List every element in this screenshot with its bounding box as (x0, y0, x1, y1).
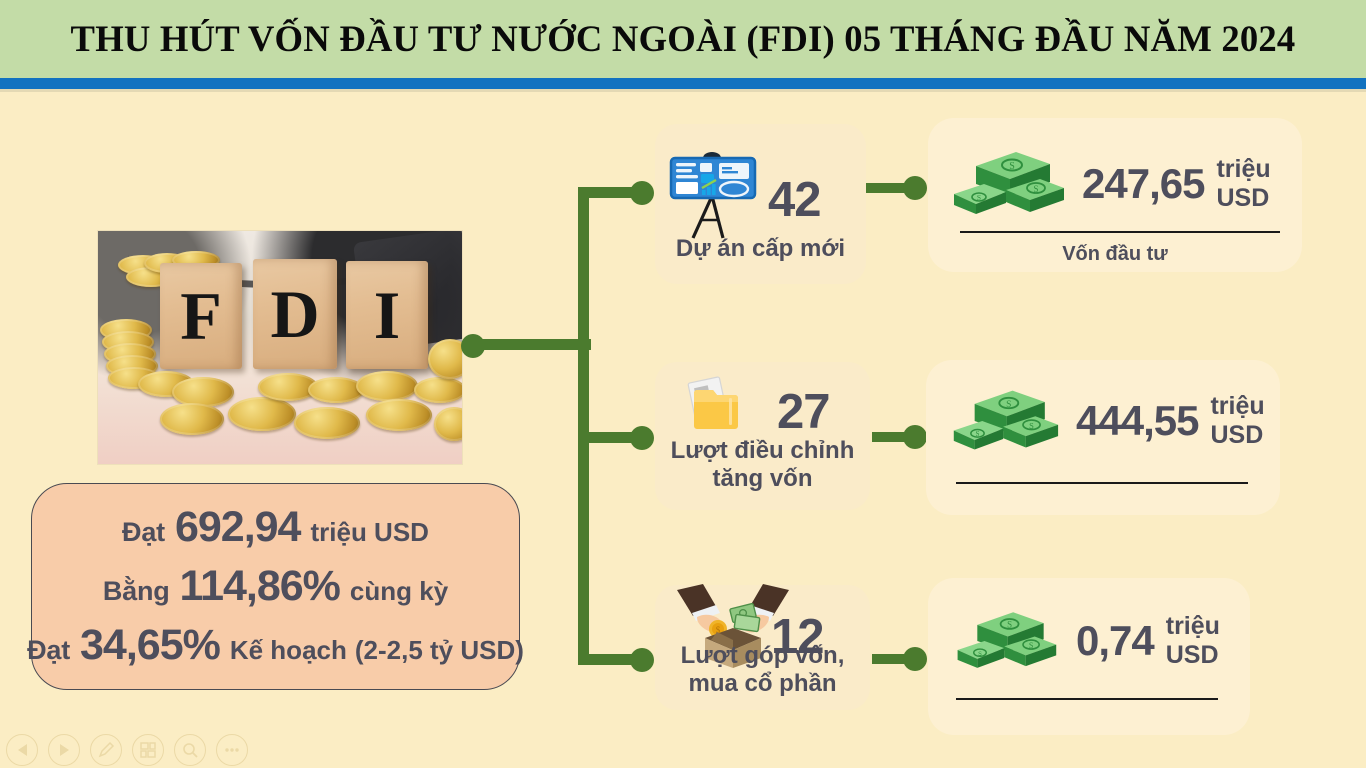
svg-text:S: S (1009, 161, 1015, 172)
money-stack-icon: S S S (950, 146, 1066, 222)
money-stack-icon: S S S (950, 384, 1060, 458)
connector-trunk (578, 192, 589, 665)
pen-tool-button[interactable] (90, 734, 122, 766)
count-new-projects: 42 (768, 176, 821, 225)
summary-line-2: Bằng 114,86% cùng kỳ (103, 562, 448, 611)
svg-text:S: S (1033, 184, 1038, 194)
amount-card-share-purchase[interactable]: S S S 0,74 triệu USD (928, 578, 1250, 735)
block-letter-d-text: D (270, 280, 319, 348)
label-share-purchase-line2: mua cổ phần (655, 671, 870, 698)
coin (294, 407, 360, 439)
amount-new-projects: 247,65 (1066, 163, 1204, 205)
label-capital-increase-line1: Lượt điều chỉnh (655, 438, 870, 465)
coin (160, 403, 224, 435)
folder-documents-icon (685, 374, 747, 436)
money-stack-icon: S S S (954, 606, 1058, 676)
amount-divider-1 (960, 231, 1280, 233)
connector-mid-right-2-dot (903, 425, 927, 449)
svg-text:S: S (1007, 620, 1012, 630)
next-slide-button[interactable] (48, 734, 80, 766)
header-rule-shadow (0, 89, 1366, 92)
amount-divider-2 (956, 482, 1248, 484)
pen-icon (97, 741, 115, 759)
label-share-purchase-line1: Lượt góp vốn, (655, 643, 870, 670)
connector-root-horizontal (473, 339, 591, 350)
grid-icon (139, 741, 157, 759)
svg-text:S: S (977, 193, 981, 202)
summary-line-1-value: 692,94 (165, 503, 311, 552)
coin (366, 399, 432, 431)
connector-mid-right-1-dot (903, 176, 927, 200)
block-letter-f-text: F (180, 282, 222, 350)
count-capital-increase: 27 (777, 388, 830, 437)
summary-line-3-value: 34,65% (70, 621, 230, 670)
summary-line-2-suffix: cùng kỳ (350, 576, 448, 607)
slide-canvas: THU HÚT VỐN ĐẦU TƯ NƯỚC NGOÀI (FDI) 05 T… (0, 0, 1366, 768)
header-blue-rule (0, 78, 1366, 89)
zoom-tool-button[interactable] (174, 734, 206, 766)
coin (228, 397, 296, 431)
summary-line-3: Đạt 34,65% Kế hoạch (2-2,5 tỷ USD) (27, 621, 524, 670)
coin (308, 377, 364, 403)
caption-new-projects: Vốn đầu tư (928, 243, 1302, 266)
summary-line-2-prefix: Bằng (103, 576, 170, 607)
previous-slide-icon (18, 744, 27, 756)
amount-card-capital-increase[interactable]: S S S 444,55 triệu USD (926, 360, 1280, 515)
block-letter-d: D (253, 259, 337, 369)
unit-share-purchase: triệu USD (1154, 612, 1250, 670)
amount-divider-3 (956, 698, 1218, 700)
connector-branch-1-dot (630, 181, 654, 205)
more-options-button[interactable] (216, 734, 248, 766)
svg-text:S: S (976, 430, 980, 438)
connector-branch-2-dot (630, 426, 654, 450)
coin (172, 377, 234, 407)
branch-card-capital-increase[interactable]: 27 Lượt điều chỉnh tăng vốn (655, 362, 870, 510)
svg-text:S: S (978, 650, 982, 657)
summary-line-1-prefix: Đạt (122, 517, 165, 548)
summary-line-3-suffix: Kế hoạch (230, 635, 347, 666)
unit-new-projects: triệu USD (1204, 155, 1302, 213)
summary-line-3-tail: (2-2,5 tỷ USD) (347, 635, 524, 666)
branch-card-new-projects[interactable]: 42 Dự án cấp mới (655, 124, 866, 284)
amount-capital-increase: 444,55 (1060, 400, 1198, 442)
block-letter-i: I (346, 261, 428, 369)
branch-card-share-purchase[interactable]: $ 12 L (655, 585, 870, 710)
connector-mid-right-3-dot (903, 647, 927, 671)
summary-card: Đạt 692,94 triệu USD Bằng 114,86% cùng k… (31, 483, 520, 690)
summary-line-2-value: 114,86% (170, 562, 350, 611)
presentation-board-icon (669, 146, 761, 242)
presentation-toolbar[interactable] (6, 733, 248, 767)
coin (414, 377, 462, 403)
coin (356, 371, 418, 401)
label-new-projects: Dự án cấp mới (655, 236, 866, 263)
unit-capital-increase: triệu USD (1198, 392, 1280, 450)
fdi-photo: F D I (98, 231, 462, 464)
amount-share-purchase: 0,74 (1058, 620, 1154, 662)
block-letter-i-text: I (374, 281, 400, 349)
magnifier-icon (181, 741, 199, 759)
slide-grid-button[interactable] (132, 734, 164, 766)
next-slide-icon (60, 744, 69, 756)
svg-text:S: S (1006, 400, 1011, 410)
svg-text:S: S (1029, 421, 1034, 431)
page-title: THU HÚT VỐN ĐẦU TƯ NƯỚC NGOÀI (FDI) 05 T… (7, 0, 1359, 78)
connector-branch-3-dot (630, 648, 654, 672)
ellipsis-icon (222, 745, 242, 755)
previous-slide-button[interactable] (6, 734, 38, 766)
summary-line-1-suffix: triệu USD (310, 517, 428, 548)
svg-text:S: S (1029, 641, 1033, 650)
summary-line-1: Đạt 692,94 triệu USD (122, 503, 429, 552)
amount-card-new-projects[interactable]: S S S 247,65 triệu USD Vốn đầu tư (928, 118, 1302, 272)
block-letter-f: F (160, 263, 242, 369)
label-capital-increase-line2: tăng vốn (655, 466, 870, 493)
summary-line-3-prefix: Đạt (27, 635, 70, 666)
